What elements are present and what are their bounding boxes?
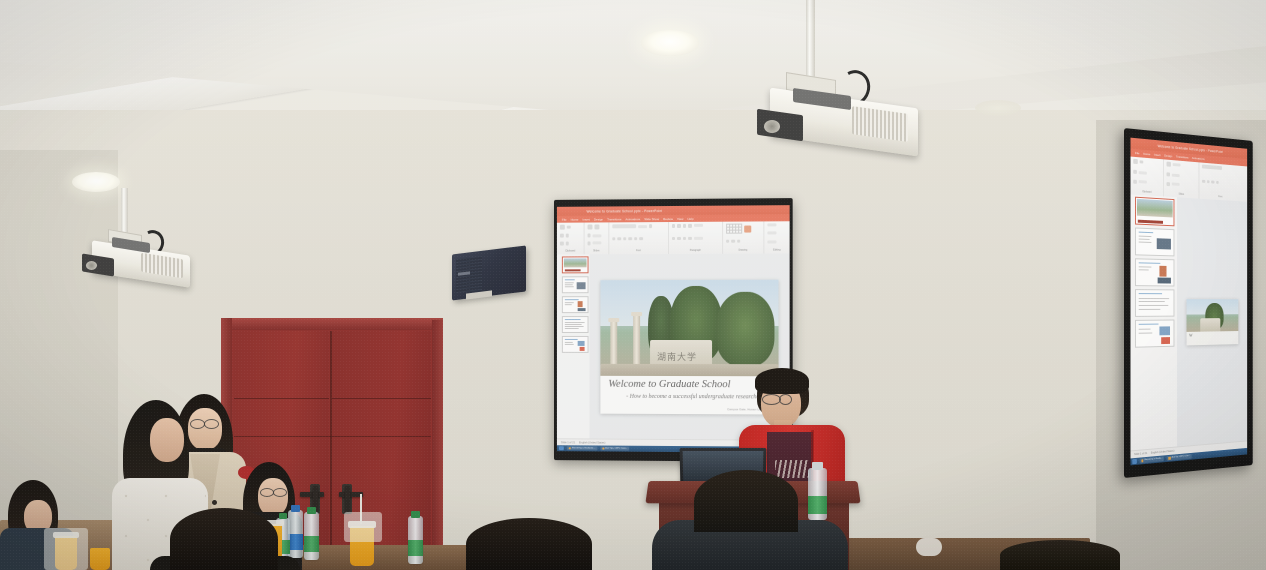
slide-thumbnail[interactable]: 1 [562, 256, 589, 273]
taskbar-item-label: Becoming a Gradu... [1145, 458, 1163, 462]
door-frame-right [432, 320, 443, 570]
start-button-icon[interactable] [1132, 459, 1137, 464]
tab-review[interactable]: Review [663, 216, 673, 220]
presenter-hair-front [755, 368, 809, 394]
student-face [188, 408, 222, 450]
powerpoint-icon [1141, 460, 1143, 463]
ribbon-group-label: Editing [767, 248, 787, 251]
ribbon-group-editing[interactable]: Editing [764, 221, 790, 253]
tab-file[interactable]: File [562, 217, 567, 221]
tab-file[interactable]: File [1135, 151, 1139, 155]
status-slide-count: Slide 1 of 21 [561, 441, 575, 444]
slide-editing-stage[interactable]: W [1177, 197, 1247, 447]
ribbon-group-paragraph[interactable]: Paragraph [669, 222, 723, 254]
photo-ground [600, 364, 778, 376]
lecture-hall-photo: Welcome to Graduate School.pptx - PowerP… [0, 0, 1266, 570]
projector-lens [86, 261, 97, 270]
photo-column-capital [608, 318, 619, 322]
tab-view[interactable]: View [677, 216, 683, 220]
powerpoint-icon [602, 447, 604, 449]
thumbnail-title-bar [565, 269, 581, 271]
photo-tree [716, 292, 774, 366]
taskbar-item[interactable]: Becoming a Graduate... [567, 446, 597, 451]
taskbar-item-label: Becoming a Graduate... [572, 447, 595, 449]
audience-head [1000, 540, 1120, 570]
taskbar-item[interactable]: Ask Tips, LSPC Coor... [600, 446, 629, 451]
tab-insert[interactable]: Insert [1154, 153, 1161, 158]
glasses-icon [190, 419, 205, 429]
student-face [258, 478, 288, 516]
status-slide-count: Slide 1 of 21 [1134, 452, 1147, 456]
projector-pole [121, 188, 128, 236]
ribbon-group-clipboard[interactable]: Clipboard [557, 223, 585, 255]
tshirt-graphic [775, 460, 809, 478]
projection-screen-surface: Welcome to Graduate School.pptx - PowerP… [557, 205, 790, 453]
student-face [150, 418, 184, 462]
ribbon-group-font[interactable]: Font [609, 222, 669, 254]
ribbon-group-label: Clipboard [1133, 190, 1160, 195]
door-lock-right[interactable] [345, 486, 350, 512]
tab-animations[interactable]: Animations [625, 217, 640, 221]
ribbon-group-slides[interactable]: Slides [585, 222, 609, 254]
powerpoint-icon [1169, 457, 1171, 460]
slide-thumbnail[interactable]: 1 [1135, 197, 1174, 227]
tab-help[interactable]: Help [687, 216, 693, 220]
audience-head [466, 518, 592, 570]
ribbon-group-label: Drawing [726, 249, 760, 252]
audience-head [170, 508, 278, 570]
monitor-surface: Welcome to Graduate School.pptx - PowerP… [1130, 138, 1247, 466]
tab-transitions[interactable]: Transitions [1176, 155, 1189, 160]
tab-transitions[interactable]: Transitions [607, 217, 621, 221]
right-lcd-monitor: Welcome to Graduate School.pptx - PowerP… [1124, 128, 1253, 478]
ceiling-downlight [72, 172, 120, 192]
door-panel-seam [234, 436, 431, 437]
current-slide[interactable]: 湖南大学 Welcome to Graduate School - How to… [600, 280, 778, 415]
current-slide[interactable]: W [1187, 299, 1239, 345]
tabletop-object[interactable] [916, 538, 942, 556]
slide-thumbnail[interactable]: 5 [562, 336, 589, 353]
ribbon-group-label: Clipboard [560, 249, 581, 252]
tab-insert[interactable]: Insert [582, 217, 589, 221]
ribbon-group-label: Slides [588, 249, 606, 252]
slide-thumbnail[interactable]: 4 [1135, 289, 1174, 317]
ribbon-group-drawing[interactable]: Drawing [723, 221, 764, 253]
slide-thumbnail[interactable]: 3 [562, 296, 589, 313]
slide-thumbnail[interactable]: 4 [562, 316, 589, 333]
ribbon-group-slides[interactable]: Slides [1164, 159, 1200, 198]
powerpoint-window[interactable]: Welcome to Graduate School.pptx - PowerP… [557, 205, 790, 453]
slide-title: W [1189, 333, 1192, 338]
powerpoint-title-text: Welcome to Graduate School.pptx - PowerP… [587, 209, 663, 214]
photo-column-capital [631, 312, 642, 316]
slide-thumbnail[interactable]: 2 [562, 276, 589, 293]
taskbar-item-label: Ask Tips, LSPC Coor... [605, 448, 627, 450]
slide-campus-photo: 湖南大学 [600, 280, 778, 377]
tab-slide-show[interactable]: Slide Show [644, 217, 659, 221]
tab-animations[interactable]: Animations [1192, 156, 1205, 161]
photo-stone-inscription: 湖南大学 [657, 350, 697, 363]
ribbon-group-label: Paragraph [672, 249, 719, 252]
projector-lens [764, 120, 780, 133]
tab-design[interactable]: Design [1164, 154, 1172, 159]
ribbon-group-label: Font [612, 249, 665, 252]
slide-thumbnail-panel[interactable]: 1 2 3 [1130, 194, 1181, 451]
slide-campus-photo [1187, 299, 1239, 332]
ceiling-downlight [975, 100, 1021, 116]
thumbnail-photo [564, 258, 587, 267]
main-projection-screen: Welcome to Graduate School.pptx - PowerP… [554, 198, 793, 462]
door-center-seam [330, 331, 332, 570]
glasses-icon [779, 394, 792, 405]
slide-thumbnail[interactable]: 2 [1135, 227, 1174, 256]
glasses-icon [204, 419, 219, 429]
door-panel-seam [332, 398, 431, 399]
door-handle-left[interactable] [300, 492, 324, 497]
glasses-icon [260, 488, 274, 497]
slide-editing-stage[interactable]: 湖南大学 Welcome to Graduate School - How to… [590, 253, 790, 440]
powerpoint-ribbon[interactable]: Clipboard Slides Font [557, 221, 790, 255]
slide-thumbnail[interactable]: 5 [1135, 320, 1174, 348]
ribbon-group-font[interactable]: Font [1199, 162, 1240, 201]
taskbar-item[interactable]: Becoming a Gradu... [1140, 457, 1165, 464]
start-button-icon[interactable] [559, 446, 564, 450]
glasses-icon [273, 488, 287, 497]
projector-pole [806, 0, 815, 80]
ribbon-group-clipboard[interactable]: Clipboard [1130, 157, 1163, 197]
taskbar-item-label: Ask Tip, LSPC Coor... [1172, 455, 1190, 459]
taskbar-item[interactable]: Ask Tip, LSPC Coor... [1167, 454, 1192, 461]
tab-home[interactable]: Home [571, 217, 579, 221]
thumbnail-photo [1137, 199, 1173, 218]
powerpoint-window-secondary[interactable]: Welcome to Graduate School.pptx - PowerP… [1130, 138, 1247, 466]
thumbnail-title-bar [1138, 219, 1163, 223]
door-header [221, 318, 443, 330]
tab-home[interactable]: Home [1143, 152, 1150, 157]
status-language: English (United States) [579, 441, 605, 444]
powerpoint-icon [569, 447, 571, 449]
slide-subtitle: - How to become a successful undergradua… [626, 394, 761, 401]
ceiling-downlight [641, 30, 699, 56]
tab-design[interactable]: Design [594, 217, 603, 221]
ribbon-group-label: Slides [1167, 192, 1196, 197]
audience-head [694, 470, 798, 532]
door-panel-seam [234, 398, 329, 399]
coat-button [212, 500, 217, 505]
slide-thumbnail[interactable]: 3 [1135, 258, 1174, 286]
slide-title: Welcome to Graduate School [608, 379, 730, 390]
